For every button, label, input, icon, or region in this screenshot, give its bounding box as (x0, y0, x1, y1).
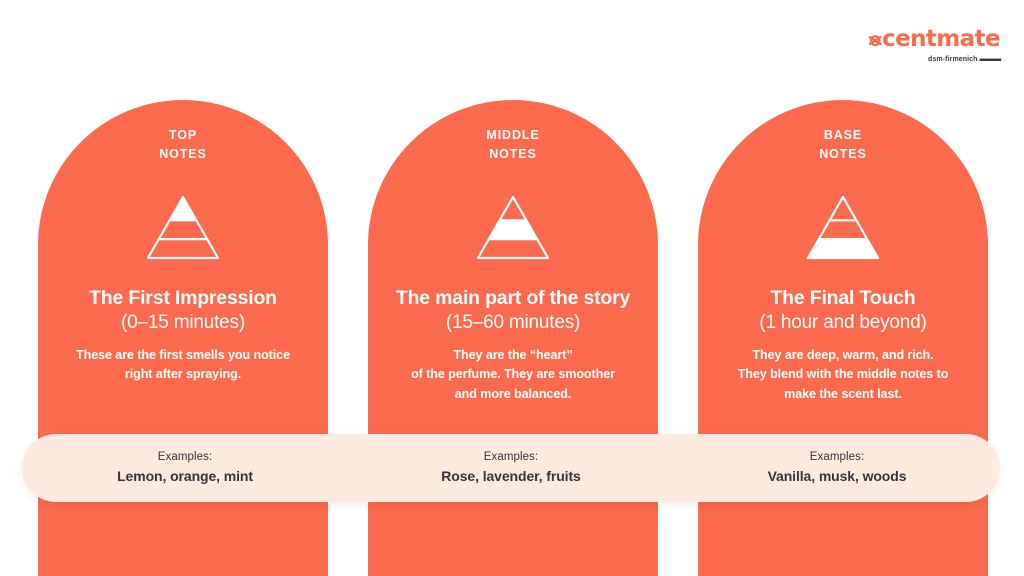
kicker-line-2: NOTES (489, 147, 537, 161)
desc-line-1: They are the “heart” (453, 348, 572, 362)
pyramid-base-highlight-icon (805, 194, 881, 260)
card-title-top-notes: The First Impression (0–15 minutes) (44, 286, 322, 335)
examples-label: Examples: (810, 449, 865, 466)
examples-label: Examples: (158, 449, 213, 466)
card-duration: (15–60 minutes) (374, 311, 652, 335)
card-description-middle-notes: They are the “heart” of the perfume. The… (374, 346, 652, 403)
desc-line-3: make the scent last. (784, 387, 902, 401)
card-description-top-notes: These are the first smells you notice ri… (44, 346, 322, 384)
desc-line-1: They are deep, warm, and rich. (752, 348, 933, 362)
scentmate-s-icon (868, 33, 882, 50)
brand-wordmark: centmate (858, 28, 1000, 51)
examples-cell-middle-notes: Examples: Rose, lavender, fruits (348, 434, 674, 502)
brand-logo-s-glyph (868, 29, 882, 52)
card-kicker-top-notes: TOP NOTES (38, 126, 328, 165)
brand-wordmark-text: centmate (882, 26, 1000, 52)
brand-parent-mark-icon: ▬▬▬ (980, 54, 1000, 63)
card-description-base-notes: They are deep, warm, and rich. They blen… (704, 346, 982, 403)
kicker-line-2: NOTES (159, 147, 207, 161)
desc-line-3: and more balanced. (455, 387, 571, 401)
card-body-top-notes: The First Impression (0–15 minutes) Thes… (38, 286, 328, 385)
desc-line-2: of the perfume. They are smoother (411, 367, 615, 381)
card-base-notes[interactable]: BASE NOTES The Final Touch (1 hour and b… (698, 100, 988, 576)
card-body-middle-notes: The main part of the story (15–60 minute… (368, 286, 658, 404)
examples-value: Lemon, orange, mint (117, 466, 253, 486)
brand-parent-company: dsm-firmenich ▬▬▬ (858, 55, 1000, 63)
kicker-line-1: MIDDLE (486, 128, 539, 142)
card-body-base-notes: The Final Touch (1 hour and beyond) They… (698, 286, 988, 404)
card-title-middle-notes: The main part of the story (15–60 minute… (374, 286, 652, 335)
card-kicker-base-notes: BASE NOTES (698, 126, 988, 165)
examples-band: Examples: Lemon, orange, mint Examples: … (22, 434, 1000, 502)
card-duration: (1 hour and beyond) (704, 311, 982, 335)
card-kicker-middle-notes: MIDDLE NOTES (368, 126, 658, 165)
pyramid-top-highlight-icon (145, 194, 221, 260)
card-title-text: The main part of the story (396, 287, 630, 309)
examples-label: Examples: (484, 449, 539, 466)
kicker-line-1: TOP (169, 128, 197, 142)
card-middle-notes[interactable]: MIDDLE NOTES The main part of the story … (368, 100, 658, 576)
kicker-line-1: BASE (824, 128, 862, 142)
examples-cell-top-notes: Examples: Lemon, orange, mint (22, 434, 348, 502)
examples-cell-base-notes: Examples: Vanilla, musk, woods (674, 434, 1000, 502)
examples-value: Rose, lavender, fruits (441, 466, 580, 486)
desc-line-2: right after spraying. (125, 367, 241, 381)
examples-value: Vanilla, musk, woods (768, 466, 907, 486)
desc-line-2: They blend with the middle notes to (738, 367, 949, 381)
card-top-notes[interactable]: TOP NOTES The First Impression (0–15 min… (38, 100, 328, 576)
pyramid-middle-highlight-icon (475, 194, 551, 260)
brand-parent-text: dsm-firmenich (928, 56, 978, 63)
fragrance-notes-cards: TOP NOTES The First Impression (0–15 min… (38, 100, 988, 576)
desc-line-1: These are the first smells you notice (76, 348, 290, 362)
card-title-base-notes: The Final Touch (1 hour and beyond) (704, 286, 982, 335)
card-duration: (0–15 minutes) (44, 311, 322, 335)
kicker-line-2: NOTES (819, 147, 867, 161)
card-title-text: The First Impression (89, 287, 277, 309)
card-title-text: The Final Touch (770, 287, 915, 309)
brand-logo: centmate dsm-firmenich ▬▬▬ (858, 28, 1000, 63)
